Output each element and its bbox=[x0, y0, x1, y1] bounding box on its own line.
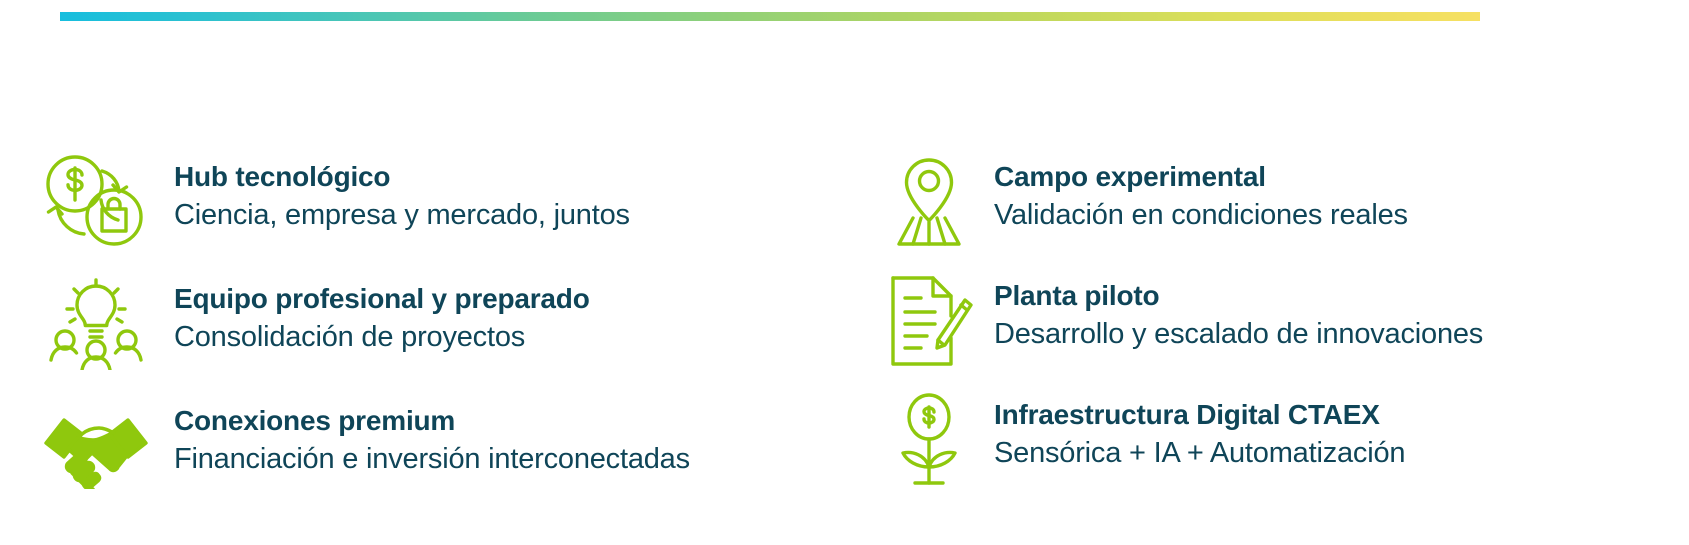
handshake-icon bbox=[40, 394, 152, 498]
feature-title: Hub tecnológico bbox=[174, 160, 860, 193]
feature-text: Conexiones premium Financiación e invers… bbox=[152, 394, 860, 476]
feature-subtitle: Consolidación de proyectos bbox=[174, 320, 860, 354]
feature-item: Campo experimental Validación en condici… bbox=[870, 150, 1689, 265]
features-column-right: Campo experimental Validación en condici… bbox=[860, 150, 1689, 516]
feature-title: Equipo profesional y preparado bbox=[174, 282, 860, 315]
feature-subtitle: Sensórica + IA + Automatización bbox=[994, 436, 1689, 470]
map-pin-field-icon bbox=[870, 150, 988, 254]
feature-item: Infraestructura Digital CTAEX Sensórica … bbox=[870, 388, 1689, 503]
slide-canvas: Hub tecnológico Ciencia, empresa y merca… bbox=[0, 0, 1689, 545]
money-plant-icon bbox=[870, 388, 988, 492]
feature-text: Hub tecnológico Ciencia, empresa y merca… bbox=[152, 150, 860, 232]
feature-subtitle: Ciencia, empresa y mercado, juntos bbox=[174, 198, 860, 232]
feature-text: Infraestructura Digital CTAEX Sensórica … bbox=[988, 388, 1689, 470]
feature-subtitle: Financiación e inversión interconectadas bbox=[174, 442, 860, 476]
document-pencil-icon bbox=[870, 269, 988, 373]
feature-item: Equipo profesional y preparado Consolida… bbox=[40, 272, 860, 390]
lightbulb-team-icon bbox=[40, 272, 152, 376]
feature-title: Conexiones premium bbox=[174, 404, 860, 437]
feature-title: Campo experimental bbox=[994, 160, 1689, 193]
features-grid: Hub tecnológico Ciencia, empresa y merca… bbox=[0, 150, 1689, 516]
feature-title: Planta piloto bbox=[994, 279, 1689, 312]
feature-item: Hub tecnológico Ciencia, empresa y merca… bbox=[40, 150, 860, 268]
feature-text: Equipo profesional y preparado Consolida… bbox=[152, 272, 860, 354]
feature-item: Conexiones premium Financiación e invers… bbox=[40, 394, 860, 512]
feature-subtitle: Validación en condiciones reales bbox=[994, 198, 1689, 232]
feature-text: Campo experimental Validación en condici… bbox=[988, 150, 1689, 232]
feature-text: Planta piloto Desarrollo y escalado de i… bbox=[988, 269, 1689, 351]
money-exchange-shopping-icon bbox=[40, 150, 152, 254]
feature-title: Infraestructura Digital CTAEX bbox=[994, 398, 1689, 431]
features-column-left: Hub tecnológico Ciencia, empresa y merca… bbox=[0, 150, 860, 516]
gradient-rule bbox=[60, 12, 1480, 21]
feature-subtitle: Desarrollo y escalado de innovaciones bbox=[994, 317, 1689, 351]
feature-item: Planta piloto Desarrollo y escalado de i… bbox=[870, 269, 1689, 384]
